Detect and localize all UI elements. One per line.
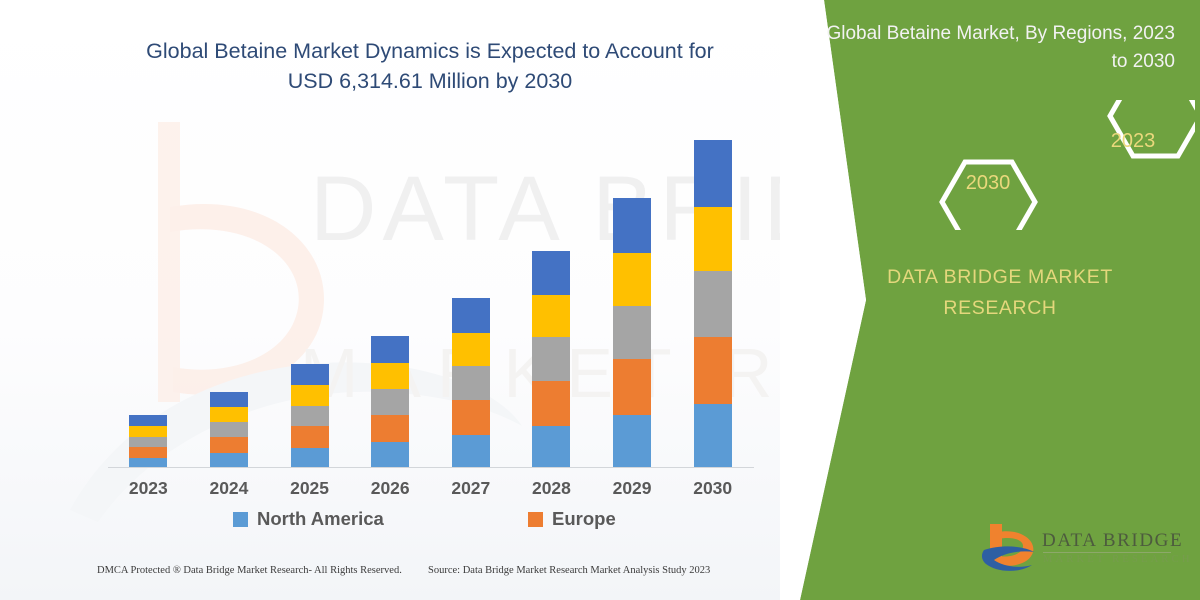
legend-swatch-icon [233,512,248,527]
x-tick-label-2028: 2028 [511,478,591,499]
brand-name-line2: RESEARCH [943,297,1056,319]
x-tick-label-2029: 2029 [592,478,672,499]
bar-segment [694,207,732,272]
bar-segment [532,337,570,380]
bar-segment [694,140,732,207]
hexagon-label-2023: 2023 [1088,130,1178,153]
bar-segment [452,333,490,366]
bar-2023 [129,415,167,468]
x-axis-line [108,467,754,468]
logo-divider [1043,552,1171,553]
x-axis-tick-labels: 20232024202520262027202820292030 [108,478,754,504]
bar-chart-plot-area [108,140,753,468]
infographic-root: DATA BRIDGE MARKET RESEARCH Global Betai… [0,0,1200,600]
bar-segment [452,366,490,400]
hexagon-outlines-icon [905,100,1195,230]
bar-2025 [291,364,329,468]
brand-panel-title: Global Betaine Market, By Regions, 2023 … [805,20,1175,76]
bar-segment [613,306,651,359]
legend-label: North America [257,508,384,530]
bar-segment [291,426,329,447]
bar-segment [291,448,329,468]
company-logo: DATA BRIDGE MARKET RESEARCH [980,520,1195,582]
bar-segment [532,251,570,295]
bar-2026 [371,336,409,468]
bar-segment [613,359,651,415]
footer-source-text: Source: Data Bridge Market Research Mark… [428,565,710,576]
x-tick-label-2024: 2024 [189,478,269,499]
chart-title-line2: USD 6,314.61 Million by 2030 [288,69,572,93]
bar-segment [210,392,248,408]
footer-dmca-text: DMCA Protected ® Data Bridge Market Rese… [97,565,402,576]
bar-2027 [452,298,490,468]
bar-segment [452,400,490,435]
hexagon-group: 2023 2030 [905,100,1195,230]
chart-title-line1: Global Betaine Market Dynamics is Expect… [146,39,714,63]
bar-segment [371,442,409,468]
legend-swatch-icon [528,512,543,527]
bar-segment [532,381,570,426]
bar-2029 [613,198,651,468]
brand-name-line1: DATA BRIDGE MARKET [887,266,1113,288]
bar-segment [129,415,167,426]
bar-segment [613,415,651,468]
bar-segment [129,447,167,458]
logo-wordmark: DATA BRIDGE [1042,530,1183,552]
bar-segment [129,437,167,447]
footer: DMCA Protected ® Data Bridge Market Rese… [0,560,800,590]
brand-panel-title-line2: to 2030 [1112,51,1175,72]
logo-tagline: MARKET RESEARCH [1043,554,1193,565]
bar-segment [613,253,651,306]
x-tick-label-2026: 2026 [350,478,430,499]
bar-segment [452,298,490,333]
hexagon-label-2030: 2030 [943,172,1033,195]
brand-panel: Global Betaine Market, By Regions, 2023 … [780,0,1200,600]
bar-segment [452,435,490,468]
bar-segment [371,363,409,389]
x-tick-label-2023: 2023 [108,478,188,499]
legend-item-north-america: North America [233,508,384,530]
bar-segment [371,336,409,363]
bar-segment [694,404,732,468]
x-tick-label-2025: 2025 [270,478,350,499]
chart-title: Global Betaine Market Dynamics is Expect… [60,36,800,96]
x-tick-label-2030: 2030 [673,478,753,499]
bar-segment [371,415,409,443]
legend-label: Europe [552,508,616,530]
bar-segment [210,422,248,437]
bar-segment [291,364,329,385]
bar-segment [291,406,329,426]
x-tick-label-2027: 2027 [431,478,511,499]
bar-2030 [694,140,732,468]
bar-segment [129,426,167,436]
bar-segment [532,295,570,337]
chart-legend: North AmericaEurope [108,508,754,542]
bar-segment [210,453,248,468]
bar-segment [210,437,248,453]
data-bridge-logo-mark-icon [980,520,1042,578]
bar-segment [371,389,409,415]
bar-segment [210,407,248,422]
bar-segment [694,271,732,336]
bar-2028 [532,251,570,468]
brand-name: DATA BRIDGE MARKET RESEARCH [820,262,1180,324]
bar-segment [291,385,329,405]
brand-panel-title-line1: Global Betaine Market, By Regions, 2023 [826,23,1175,44]
legend-item-europe: Europe [528,508,616,530]
bar-segment [694,337,732,405]
chart-panel: DATA BRIDGE MARKET RESEARCH Global Betai… [0,0,860,600]
bar-2024 [210,392,248,468]
bar-segment [613,198,651,253]
bar-segment [532,426,570,468]
